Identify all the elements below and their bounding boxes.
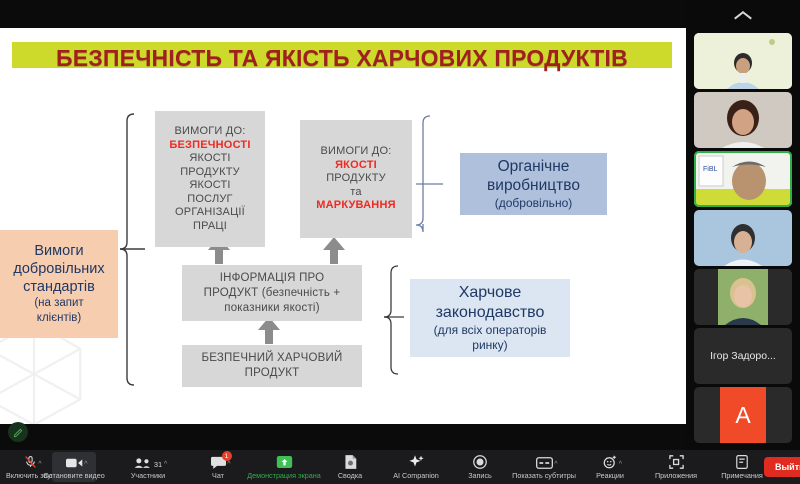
box-line: ІНФОРМАЦІЯ ПРО [220, 271, 325, 286]
box-line: ринку) [472, 338, 507, 353]
box-line-highlight: ЯКОСТІ [335, 159, 377, 173]
box-line: показники якості) [224, 301, 319, 316]
participants-count: 31 [154, 460, 162, 469]
participants-icon: 31 ^ [134, 454, 162, 469]
video-thumbnail: FiBL [694, 151, 792, 207]
avatar: A [720, 387, 766, 443]
box-organic-production: Органічне виробництво (добровільно) [460, 153, 607, 215]
shared-screen-stage[interactable]: БЕЗПЕЧНІСТЬ ТА ЯКІСТЬ ХАРЧОВИХ ПРОДУКТІВ [0, 28, 686, 424]
participant-name: Ігор Задоро... [694, 328, 792, 384]
box-line: законодавство [436, 303, 545, 323]
participant-tile[interactable] [694, 33, 792, 89]
record-icon [473, 454, 487, 469]
chat-button[interactable]: 1 ^ Чат [196, 450, 240, 484]
toolbar-label: Примечания [721, 471, 763, 480]
box-product-information: ІНФОРМАЦІЯ ПРО ПРОДУКТ (безпечність + по… [182, 265, 362, 321]
apps-icon [669, 454, 684, 469]
ai-companion-button[interactable]: AI Companion [394, 450, 438, 484]
box-line: ЯКОСТІ [189, 179, 230, 193]
box-line: ПРОДУКТУ [180, 166, 240, 180]
captions-icon: ^ [536, 454, 553, 469]
svg-text:FiBL: FiBL [703, 166, 718, 173]
notes-icon [736, 454, 748, 469]
annotate-button[interactable] [8, 422, 28, 442]
leave-button[interactable]: Выйти [764, 457, 800, 477]
summary-button[interactable]: Сводка [328, 450, 372, 484]
participant-tile-name-only[interactable]: Ігор Задоро... [694, 328, 792, 384]
captions-button[interactable]: ^ Показать субтитры [522, 450, 566, 484]
video-thumbnail [694, 210, 792, 266]
box-line: ВИМОГИ ДО: [321, 145, 392, 159]
box-line: добровільних [13, 260, 104, 278]
participant-strip[interactable]: FiBL Ігор Задоро... [686, 0, 800, 450]
box-line: виробництво [487, 176, 580, 195]
toolbar-label: Приложения [655, 471, 697, 480]
slide-title: БЕЗПЕЧНІСТЬ ТА ЯКІСТЬ ХАРЧОВИХ ПРОДУКТІВ [12, 43, 672, 73]
chevron-up-icon[interactable]: ^ [227, 461, 230, 468]
box-line: ПРОДУКТ (безпечність + [204, 286, 341, 301]
camera-icon: ^ [66, 454, 83, 469]
zoom-meeting-window: БЕЗПЕЧНІСТЬ ТА ЯКІСТЬ ХАРЧОВИХ ПРОДУКТІВ [0, 0, 800, 484]
box-line: ПОСЛУГ [187, 193, 232, 207]
toolbar-label: Сводка [338, 471, 362, 480]
box-line: (для всіх операторів [434, 323, 547, 338]
box-line: ПРАЦІ [193, 220, 227, 234]
reactions-icon: ^ [603, 454, 617, 469]
box-line: ПРОДУКТ [245, 366, 300, 381]
box-line: (на запит [34, 296, 83, 311]
participant-tile[interactable] [694, 269, 792, 325]
participant-tile[interactable] [694, 210, 792, 266]
video-thumbnail [694, 269, 792, 325]
box-line: Вимоги [34, 242, 83, 260]
chevron-up-icon[interactable]: ^ [554, 461, 557, 468]
chevron-up-icon [732, 9, 754, 21]
participant-tile-avatar[interactable]: A [694, 387, 792, 443]
meeting-toolbar[interactable]: ^ Включить звук ^ Остановите видео 31 ^ … [0, 450, 800, 484]
sparkle-icon [409, 454, 424, 469]
apps-button[interactable]: Приложения [654, 450, 698, 484]
toolbar-label: Запись [468, 471, 492, 480]
box-line: Органічне [498, 157, 570, 176]
presentation-slide: БЕЗПЕЧНІСТЬ ТА ЯКІСТЬ ХАРЧОВИХ ПРОДУКТІВ [0, 28, 686, 424]
toolbar-label: Чат [212, 471, 224, 480]
video-thumbnail [694, 33, 792, 89]
box-voluntary-standards: Вимоги добровільних стандартів (на запит… [0, 230, 118, 338]
box-requirements-safety: ВИМОГИ ДО: БЕЗПЕЧНОСТІ ЯКОСТІ ПРОДУКТУ Я… [155, 111, 265, 247]
box-safe-food-product: БЕЗПЕЧНИЙ ХАРЧОВИЙ ПРОДУКТ [182, 345, 362, 387]
toolbar-label: Остановите видео [43, 471, 104, 480]
box-line: стандартів [23, 278, 95, 296]
box-line: клієнтів) [37, 311, 81, 326]
chevron-up-icon[interactable]: ^ [619, 461, 622, 468]
microphone-muted-icon: ^ [24, 454, 37, 469]
chevron-up-icon[interactable]: ^ [164, 461, 167, 468]
toolbar-label: AI Companion [393, 471, 439, 480]
box-line-highlight: МАРКУВАННЯ [316, 199, 395, 213]
chevron-up-icon[interactable]: ^ [38, 461, 41, 468]
pencil-icon [13, 427, 24, 438]
box-line: ОРГАНІЗАЦІЇ [175, 206, 245, 220]
participant-tile[interactable] [694, 92, 792, 148]
box-line: (добровільно) [495, 195, 572, 211]
video-thumbnail [694, 92, 792, 148]
participants-button[interactable]: 31 ^ Участники [126, 450, 170, 484]
chevron-up-icon[interactable]: ^ [84, 461, 87, 468]
strip-collapse-button[interactable] [686, 0, 800, 30]
box-line-highlight: БЕЗПЕЧНОСТІ [169, 139, 250, 153]
box-line: БЕЗПЕЧНИЙ ХАРЧОВИЙ [202, 351, 343, 366]
box-food-legislation: Харчове законодавство (для всіх оператор… [410, 279, 570, 357]
record-button[interactable]: Запись [458, 450, 502, 484]
box-line: та [350, 186, 361, 200]
stop-video-button[interactable]: ^ Остановите видео [52, 452, 96, 482]
summary-icon [344, 454, 357, 469]
box-line: Харчове [459, 283, 522, 303]
slide-title-area: БЕЗПЕЧНІСТЬ ТА ЯКІСТЬ ХАРЧОВИХ ПРОДУКТІВ [0, 42, 686, 78]
share-screen-icon [276, 454, 293, 469]
box-requirements-quality: ВИМОГИ ДО: ЯКОСТІ ПРОДУКТУ та МАРКУВАННЯ [300, 120, 412, 238]
box-line: ЯКОСТІ [189, 152, 230, 166]
toolbar-label: Показать субтитры [512, 471, 576, 480]
chat-icon: 1 ^ [211, 454, 226, 469]
chat-unread-badge: 1 [222, 451, 232, 461]
toolbar-label: Демонстрация экрана [247, 471, 320, 480]
toolbar-label: Реакции [596, 471, 624, 480]
reactions-button[interactable]: ^ Реакции [588, 450, 632, 484]
box-line: ВИМОГИ ДО: [175, 125, 246, 139]
share-screen-button[interactable]: Демонстрация экрана [262, 450, 306, 484]
toolbar-label: Участники [131, 471, 165, 480]
participant-tile-active-speaker[interactable]: FiBL [694, 151, 792, 207]
notes-button[interactable]: Примечания [720, 450, 764, 484]
box-line: ПРОДУКТУ [326, 172, 386, 186]
